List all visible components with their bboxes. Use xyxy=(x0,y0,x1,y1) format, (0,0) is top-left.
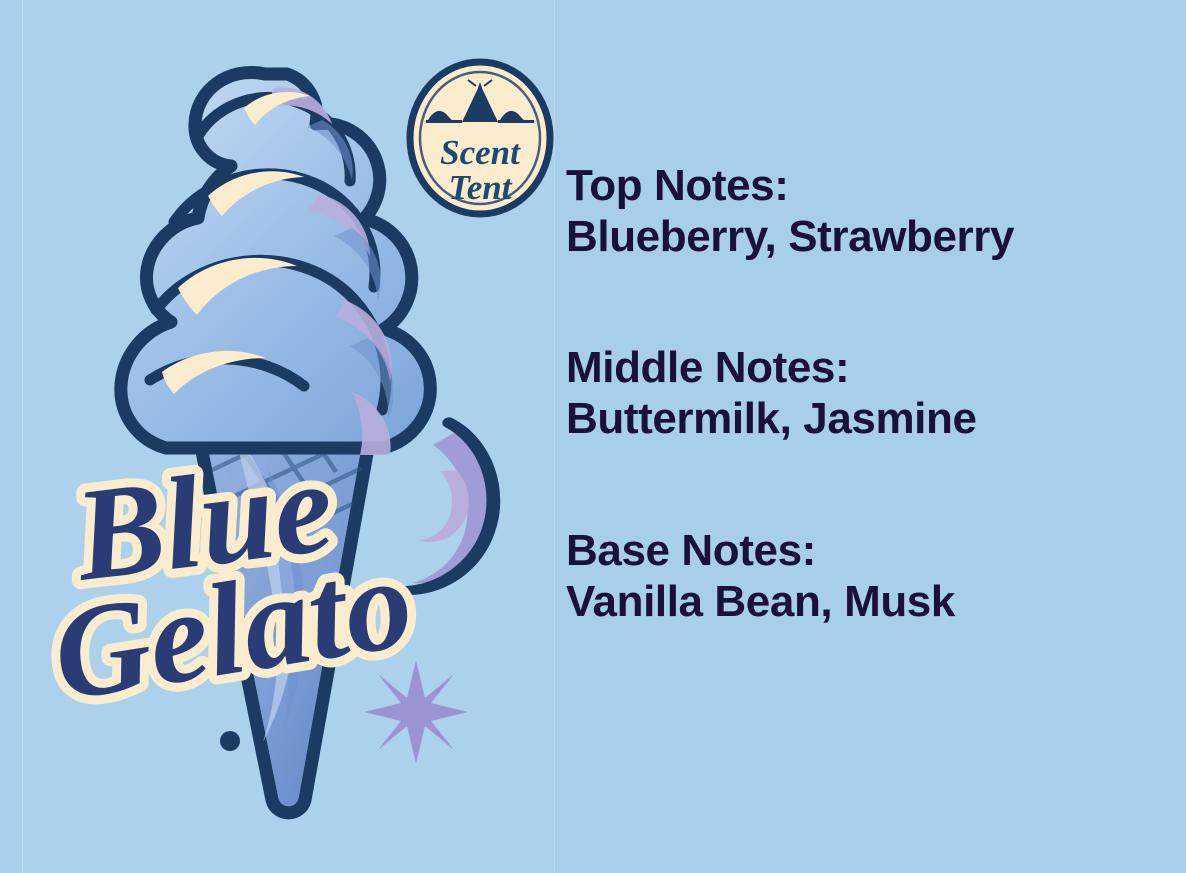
notes-values: Blueberry, Strawberry xyxy=(566,211,1166,262)
accent-dot-icon xyxy=(220,731,240,751)
scent-tent-badge: Scent Tent xyxy=(406,58,554,218)
soft-serve-swirl-icon xyxy=(121,72,430,455)
swoosh-flourish-icon xyxy=(402,417,501,595)
fragrance-notes-panel: Top Notes: Blueberry, Strawberry Middle … xyxy=(566,0,1166,873)
badge-line2: Tent xyxy=(449,168,513,207)
notes-group-top: Top Notes: Blueberry, Strawberry xyxy=(566,160,1166,262)
notes-group-middle: Middle Notes: Buttermilk, Jasmine xyxy=(566,342,1166,444)
badge-line1: Scent xyxy=(440,133,521,172)
notes-group-base: Base Notes: Vanilla Bean, Musk xyxy=(566,525,1166,627)
notes-heading: Base Notes: xyxy=(566,525,1166,576)
eight-point-star-icon xyxy=(364,660,468,764)
notes-values: Vanilla Bean, Musk xyxy=(566,576,1166,627)
notes-values: Buttermilk, Jasmine xyxy=(566,393,1166,444)
artwork-panel: Blue Gelato xyxy=(22,0,555,873)
notes-heading: Top Notes: xyxy=(566,160,1166,211)
notes-heading: Middle Notes: xyxy=(566,342,1166,393)
product-scent-card: Blue Gelato xyxy=(0,0,1186,873)
